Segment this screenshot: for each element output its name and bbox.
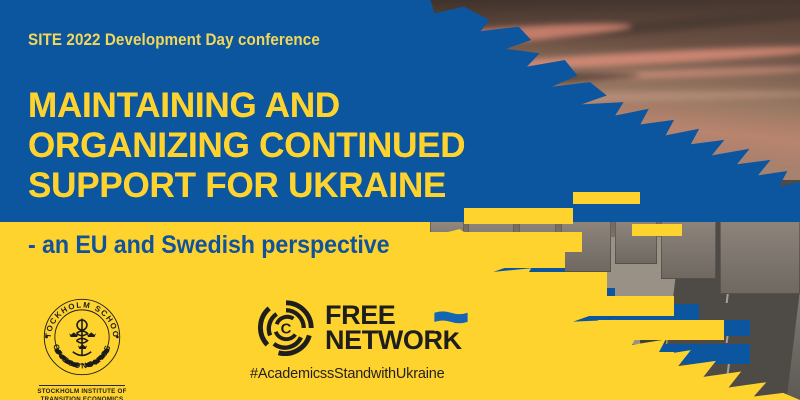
free-network-mark-icon: C xyxy=(258,300,314,356)
headline-line-2: ORGANIZING CONTINUED xyxy=(28,126,465,166)
headline-line-3: SUPPORT FOR UKRAINE xyxy=(28,166,465,206)
poster: SITE 2022 Development Day conference MAI… xyxy=(0,0,800,400)
page-title: MAINTAINING AND ORGANIZING CONTINUED SUP… xyxy=(28,86,465,206)
sse-subtitle: STOCKHOLM INSTITUTE OF TRANSITION ECONOM… xyxy=(30,388,134,400)
hashtag: #AcademicssStandwithUkraine xyxy=(250,366,444,382)
sse-divider xyxy=(39,385,125,386)
sse-subtitle-line-1: STOCKHOLM INSTITUTE OF xyxy=(30,388,134,396)
conference-eyebrow: SITE 2022 Development Day conference xyxy=(28,31,320,50)
ukraine-flag-icon xyxy=(432,310,470,334)
stockholm-school-of-economics-seal-icon: STOCKHOLM SCHOOL OF ECONOMICS xyxy=(36,291,128,383)
headline-line-1: MAINTAINING AND xyxy=(28,86,465,126)
sse-logo: STOCKHOLM SCHOOL OF ECONOMICS xyxy=(30,291,134,400)
sse-subtitle-line-2: TRANSITION ECONOMICS xyxy=(30,396,134,400)
subtitle: - an EU and Swedish perspective xyxy=(28,231,389,260)
svg-text:C: C xyxy=(281,321,292,338)
